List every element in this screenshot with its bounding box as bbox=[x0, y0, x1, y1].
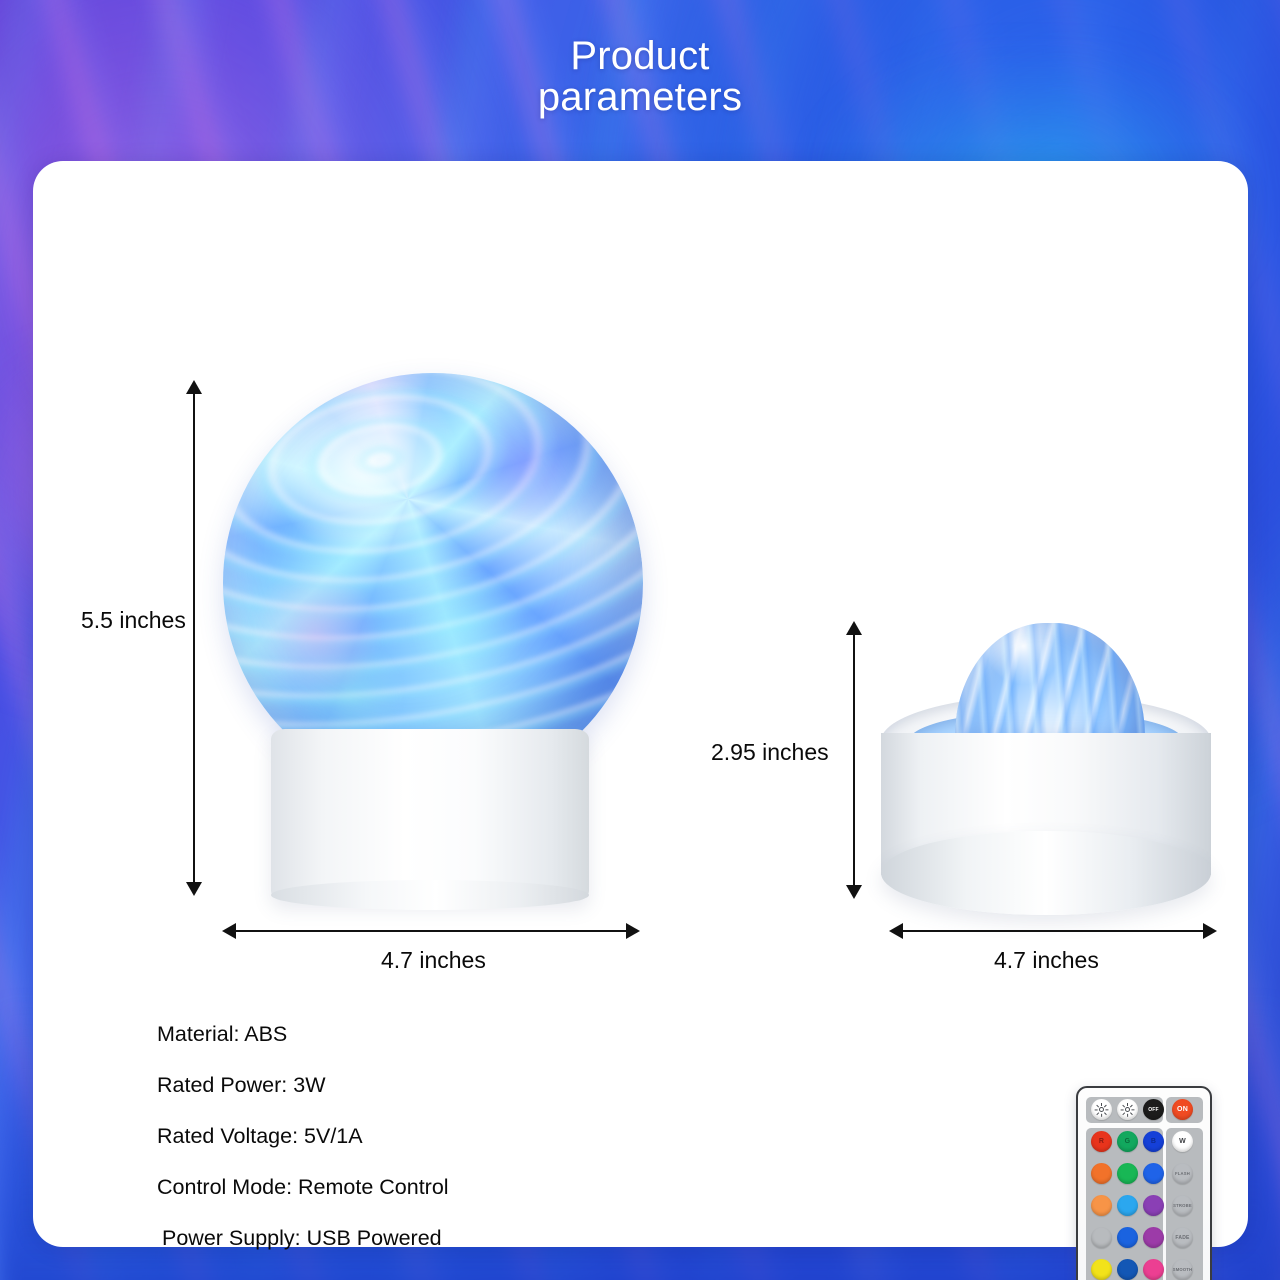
remote-button-b[interactable]: B bbox=[1143, 1131, 1164, 1152]
remote-button-w[interactable]: W bbox=[1172, 1131, 1193, 1152]
sun-ray bbox=[1127, 1103, 1128, 1106]
sun-ray bbox=[1101, 1103, 1102, 1106]
remote-button-color-r3c3[interactable] bbox=[1143, 1195, 1164, 1216]
dimension-arrow-height-product-a bbox=[193, 393, 195, 883]
dimension-label-height-product-b: 2.95 inches bbox=[711, 739, 829, 766]
brightness-up-glyph bbox=[1095, 1103, 1108, 1116]
sun-ray bbox=[1104, 1112, 1107, 1115]
arrowhead-up-icon bbox=[846, 621, 862, 635]
spec-material: Material: ABS bbox=[157, 1023, 777, 1045]
arrowhead-right-icon bbox=[626, 923, 640, 939]
page-title: Product parameters bbox=[0, 36, 1280, 118]
remote-button-label: W bbox=[1179, 1138, 1186, 1145]
dimension-label-width-product-a: 4.7 inches bbox=[381, 947, 486, 974]
remote-button-on[interactable]: ON bbox=[1172, 1099, 1193, 1120]
remote-button-r[interactable]: R bbox=[1091, 1131, 1112, 1152]
page-title-line-1: Product bbox=[0, 36, 1280, 77]
sun-ray bbox=[1101, 1113, 1102, 1116]
remote-button-label: FADE bbox=[1175, 1235, 1189, 1241]
dimension-arrow-width-product-a bbox=[235, 930, 627, 932]
remote-button-color-r5c1[interactable] bbox=[1091, 1259, 1112, 1280]
spec-rated-power: Rated Power: 3W bbox=[157, 1074, 777, 1096]
remote-control-image: OFFONRGBWFLASHSTROBEFADESMOOTH bbox=[1076, 1086, 1212, 1280]
sun-ray bbox=[1127, 1113, 1128, 1116]
arrowhead-down-icon bbox=[186, 882, 202, 896]
remote-button-label: FLASH bbox=[1175, 1171, 1190, 1176]
sun-ray bbox=[1131, 1109, 1134, 1110]
sun-ray bbox=[1121, 1109, 1124, 1110]
sun-ray bbox=[1130, 1104, 1133, 1107]
dome-lamp-base bbox=[881, 733, 1211, 875]
arrowhead-up-icon bbox=[186, 380, 202, 394]
remote-button-color-r3c2[interactable] bbox=[1117, 1195, 1138, 1216]
remote-button-color-r2c3[interactable] bbox=[1143, 1163, 1164, 1184]
brightness-down-glyph bbox=[1121, 1103, 1134, 1116]
spec-control-mode: Control Mode: Remote Control bbox=[157, 1176, 777, 1198]
remote-button-off[interactable]: OFF bbox=[1143, 1099, 1164, 1120]
remote-button-label: G bbox=[1125, 1138, 1131, 1145]
dimension-arrow-height-product-b bbox=[853, 634, 855, 886]
arrowhead-left-icon bbox=[889, 923, 903, 939]
remote-button-color-r3c1[interactable] bbox=[1091, 1195, 1112, 1216]
remote-button-color-r2c2[interactable] bbox=[1117, 1163, 1138, 1184]
spec-power-supply: Power Supply: USB Powered bbox=[157, 1227, 777, 1249]
dimension-label-height-product-a: 5.5 inches bbox=[81, 607, 186, 634]
remote-button-brightness-down[interactable] bbox=[1117, 1099, 1138, 1120]
sun-ray bbox=[1095, 1109, 1098, 1110]
specification-list: Material: ABS Rated Power: 3W Rated Volt… bbox=[157, 1023, 777, 1280]
arrowhead-left-icon bbox=[222, 923, 236, 939]
page-title-line-2: parameters bbox=[0, 77, 1280, 118]
remote-button-label: ON bbox=[1177, 1106, 1188, 1113]
spec-rated-voltage: Rated Voltage: 5V/1A bbox=[157, 1125, 777, 1147]
product-image-galaxy-globe-lamp bbox=[188, 361, 658, 901]
arrowhead-right-icon bbox=[1203, 923, 1217, 939]
remote-button-fade[interactable]: FADE bbox=[1172, 1227, 1193, 1248]
remote-button-brightness-up[interactable] bbox=[1091, 1099, 1112, 1120]
remote-button-color-r2c1[interactable] bbox=[1091, 1163, 1112, 1184]
remote-button-label: SMOOTH bbox=[1173, 1267, 1193, 1272]
remote-button-color-r5c2[interactable] bbox=[1117, 1259, 1138, 1280]
sun-ray bbox=[1122, 1104, 1125, 1107]
infographic-page: Product parameters 5.5 inches 4.7 inches bbox=[0, 0, 1280, 1280]
product-image-crystal-dome-lamp bbox=[881, 623, 1211, 901]
remote-button-g[interactable]: G bbox=[1117, 1131, 1138, 1152]
remote-button-color-r4c2[interactable] bbox=[1117, 1227, 1138, 1248]
sun-ray bbox=[1104, 1104, 1107, 1107]
sun-ray bbox=[1096, 1104, 1099, 1107]
sun-ray bbox=[1122, 1112, 1125, 1115]
remote-button-color-r4c1[interactable] bbox=[1091, 1227, 1112, 1248]
crystal-dome-shade bbox=[955, 623, 1145, 751]
remote-button-color-r4c3[interactable] bbox=[1143, 1227, 1164, 1248]
remote-button-label: B bbox=[1151, 1138, 1156, 1145]
sun-ray bbox=[1105, 1109, 1108, 1110]
content-card: 5.5 inches 4.7 inches 2.95 inches 4.7 in… bbox=[33, 161, 1248, 1247]
globe-lamp-base bbox=[271, 729, 589, 901]
remote-button-color-r5c3[interactable] bbox=[1143, 1259, 1164, 1280]
sun-ray bbox=[1130, 1112, 1133, 1115]
dimension-arrow-width-product-b bbox=[902, 930, 1204, 932]
remote-button-smooth[interactable]: SMOOTH bbox=[1172, 1259, 1193, 1280]
remote-button-flash[interactable]: FLASH bbox=[1172, 1163, 1193, 1184]
remote-button-label: R bbox=[1099, 1138, 1104, 1145]
arrowhead-down-icon bbox=[846, 885, 862, 899]
remote-button-label: STROBE bbox=[1173, 1203, 1192, 1208]
remote-button-label: OFF bbox=[1148, 1107, 1159, 1113]
sun-ray bbox=[1096, 1112, 1099, 1115]
remote-button-strobe[interactable]: STROBE bbox=[1172, 1195, 1193, 1216]
dimension-label-width-product-b: 4.7 inches bbox=[994, 947, 1099, 974]
